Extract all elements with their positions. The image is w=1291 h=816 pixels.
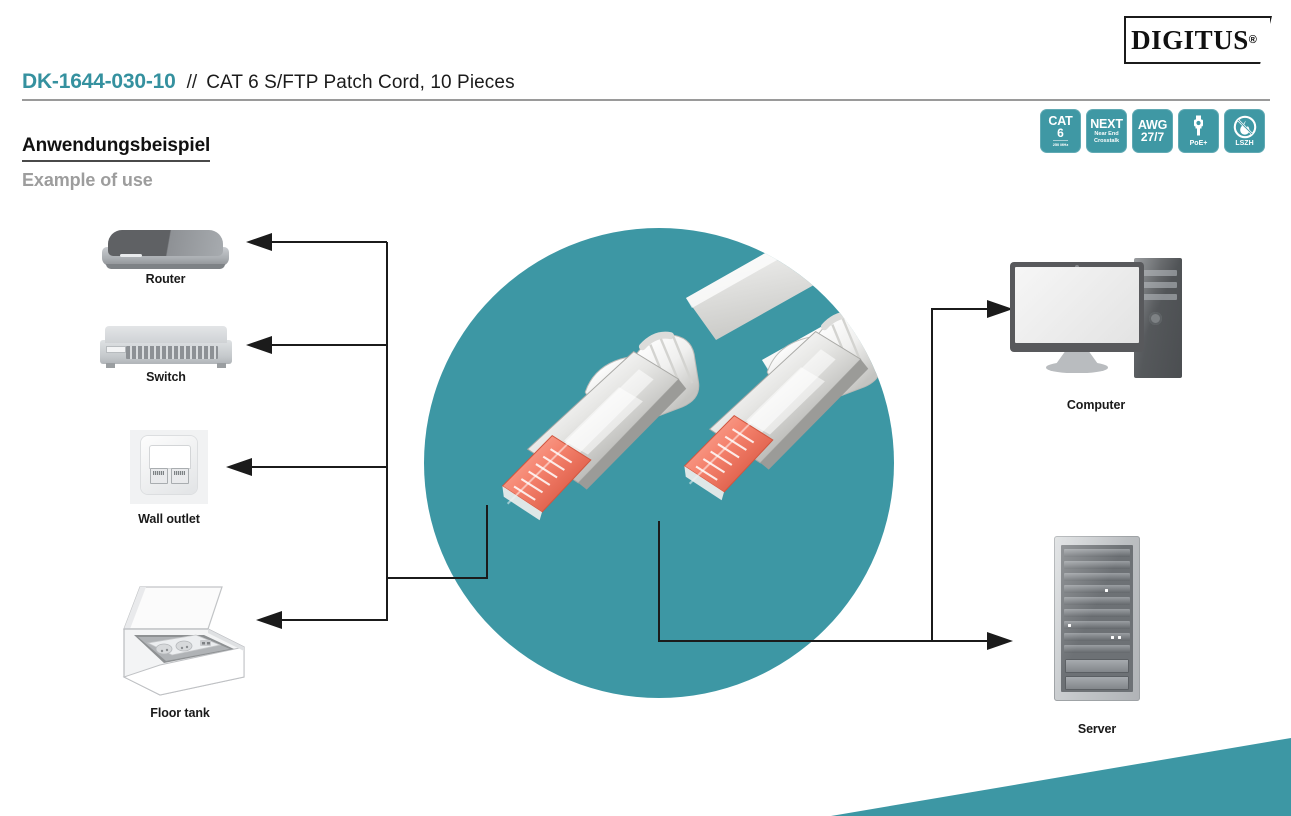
product-datasheet-page: DIGITUS® DK-1644-030-10 // CAT 6 S/FTP P… (0, 0, 1291, 816)
server-led-3 (1111, 636, 1114, 639)
cat6-badge: CAT 6 250 MHz (1040, 109, 1081, 153)
wall-outlet-label: Wall outlet (130, 512, 208, 526)
next-badge: NEXT Near End Crosstalk (1086, 109, 1127, 153)
next-badge-sub: Near End Crosstalk (1094, 131, 1119, 144)
cat6-badge-tiny: 250 MHz (1053, 140, 1069, 147)
lszh-badge-caption: LSZH (1235, 140, 1253, 148)
server-led-1 (1068, 624, 1071, 627)
monitor-screen (1015, 267, 1139, 343)
tower-bay-2 (1141, 282, 1177, 288)
section-title-en: Example of use (22, 170, 210, 191)
monitor-base (1046, 362, 1108, 373)
device-switch: Switch (100, 326, 232, 396)
device-wall-outlet: Wall outlet (130, 430, 208, 530)
lszh-badge: LSZH (1224, 109, 1265, 153)
cat6-patch-cord-photo (424, 228, 894, 698)
server-led-2 (1105, 589, 1108, 592)
patch-cord-illustration (424, 228, 894, 698)
server-bay-2 (1064, 561, 1130, 569)
wall-outlet-illustration (130, 430, 208, 504)
device-computer: Computer (1010, 258, 1182, 418)
awg-badge-line2: 27/7 (1141, 131, 1164, 143)
feature-badge-row: CAT 6 250 MHz NEXT Near End Crosstalk AW… (1040, 109, 1265, 153)
cat6-badge-line2: 6 (1057, 127, 1064, 139)
server-bay-3 (1064, 573, 1130, 581)
header-divider (22, 99, 1270, 101)
product-sku: DK-1644-030-10 (22, 70, 176, 94)
server-drive-2 (1065, 676, 1129, 690)
cat6-badge-line1: CAT (1048, 115, 1072, 127)
router-label: Router (102, 272, 229, 286)
server-bay-6 (1064, 609, 1130, 617)
device-server: Server (1054, 536, 1140, 746)
header-separator: // (187, 72, 198, 94)
router-top-shell (108, 230, 223, 256)
no-flame-icon (1233, 115, 1257, 139)
server-illustration (1054, 536, 1140, 701)
digitus-logo: DIGITUS® (1124, 16, 1272, 64)
logo-registered-mark: ® (1249, 34, 1257, 46)
switch-foot-right (217, 363, 226, 368)
server-led-4 (1118, 636, 1121, 639)
server-bay-4 (1064, 585, 1130, 593)
device-router: Router (102, 230, 229, 300)
switch-top-shell (105, 326, 227, 343)
section-title-de: Anwendungsbeispiel (22, 135, 210, 162)
poe-badge: PoE+ (1178, 109, 1219, 153)
logo-wordmark: DIGITUS (1131, 27, 1249, 54)
server-bay-9 (1064, 645, 1130, 653)
section-heading: Anwendungsbeispiel Example of use (22, 135, 210, 191)
next-badge-line1: NEXT (1090, 118, 1123, 130)
poe-badge-caption: PoE+ (1190, 140, 1208, 148)
tower-bay-1 (1141, 270, 1177, 276)
server-bay-5 (1064, 597, 1130, 605)
rj45-jack-1 (150, 468, 168, 484)
awg-badge: AWG 27/7 (1132, 109, 1173, 153)
tower-power-button (1149, 312, 1162, 325)
floor-tank-label: Floor tank (112, 706, 248, 720)
server-bay-1 (1064, 549, 1130, 557)
server-drive-1 (1065, 659, 1129, 673)
computer-illustration (1010, 258, 1182, 384)
switch-label: Switch (100, 370, 232, 384)
server-front-panel (1061, 545, 1133, 692)
switch-port-array (126, 346, 218, 359)
switch-foot-left (106, 363, 115, 368)
rj45-jack-2 (171, 468, 189, 484)
arrowheads-left (226, 233, 282, 629)
wall-outlet-window (149, 445, 191, 469)
server-bay-7 (1064, 621, 1130, 629)
product-description: CAT 6 S/FTP Patch Cord, 10 Pieces (206, 72, 515, 94)
plug-icon (1191, 115, 1206, 139)
router-led (120, 254, 142, 257)
switch-illustration (100, 326, 232, 370)
router-illustration (102, 230, 229, 272)
computer-label: Computer (1010, 398, 1182, 412)
product-header: DK-1644-030-10 // CAT 6 S/FTP Patch Cord… (22, 70, 515, 94)
switch-front-label (106, 346, 126, 353)
tower-bay-3 (1141, 294, 1177, 300)
bottom-teal-wedge (831, 738, 1291, 816)
floor-tank-illustration (112, 585, 248, 697)
logo-inner: DIGITUS® (1124, 16, 1272, 64)
device-floor-tank: Floor tank (112, 585, 248, 733)
router-shadow (106, 264, 225, 269)
server-label: Server (1054, 722, 1140, 736)
